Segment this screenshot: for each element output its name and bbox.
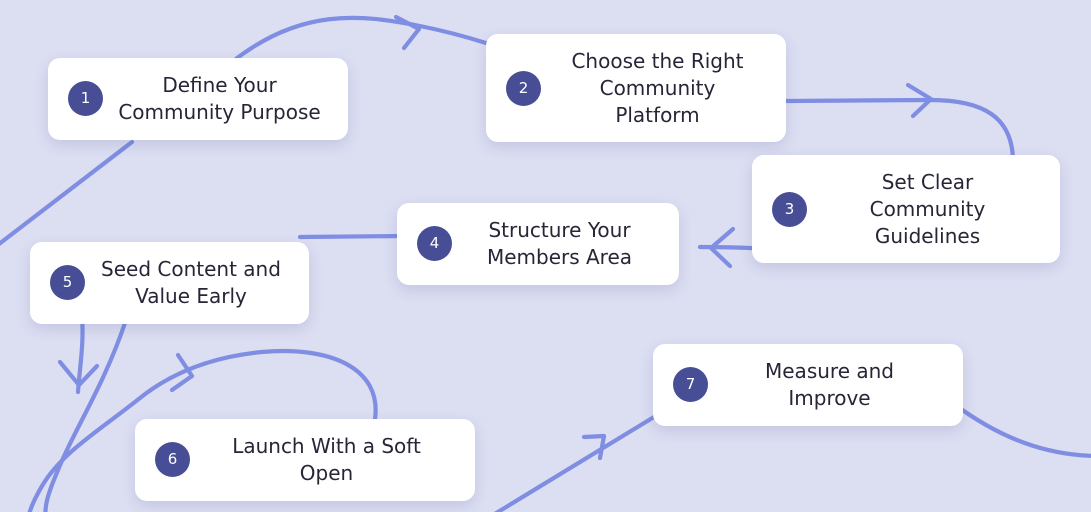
step-label-2: Choose the Right Community Platform [541, 48, 766, 128]
connector-6-to-7 [452, 406, 672, 512]
connector-5-to-4 [300, 236, 404, 237]
step-card-6[interactable]: 6 Launch With a Soft Open [135, 419, 475, 501]
step-card-2[interactable]: 2 Choose the Right Community Platform [486, 34, 786, 142]
step-badge-3: 3 [772, 192, 807, 227]
step-card-4[interactable]: 4 Structure Your Members Area [397, 203, 679, 285]
step-badge-5: 5 [50, 265, 85, 300]
step-badge-1: 1 [68, 81, 103, 116]
connector-exit [954, 404, 1091, 456]
step-label-7: Measure and Improve [708, 358, 943, 412]
step-label-1: Define Your Community Purpose [103, 72, 328, 126]
step-label-4: Structure Your Members Area [452, 217, 659, 271]
connector-entry [0, 142, 132, 254]
step-card-7[interactable]: 7 Measure and Improve [653, 344, 963, 426]
step-badge-7: 7 [673, 367, 708, 402]
step-card-1[interactable]: 1 Define Your Community Purpose [48, 58, 348, 140]
flowchart-canvas: 1 Define Your Community Purpose 2 Choose… [0, 0, 1091, 512]
step-card-3[interactable]: 3 Set Clear Community Guidelines [752, 155, 1060, 263]
step-label-5: Seed Content and Value Early [85, 256, 289, 310]
step-badge-4: 4 [417, 226, 452, 261]
step-label-6: Launch With a Soft Open [190, 433, 455, 487]
connector-2-to-3 [787, 100, 1013, 160]
step-badge-2: 2 [506, 71, 541, 106]
step-card-5[interactable]: 5 Seed Content and Value Early [30, 242, 309, 324]
step-badge-6: 6 [155, 442, 190, 477]
step-label-3: Set Clear Community Guidelines [807, 169, 1040, 249]
